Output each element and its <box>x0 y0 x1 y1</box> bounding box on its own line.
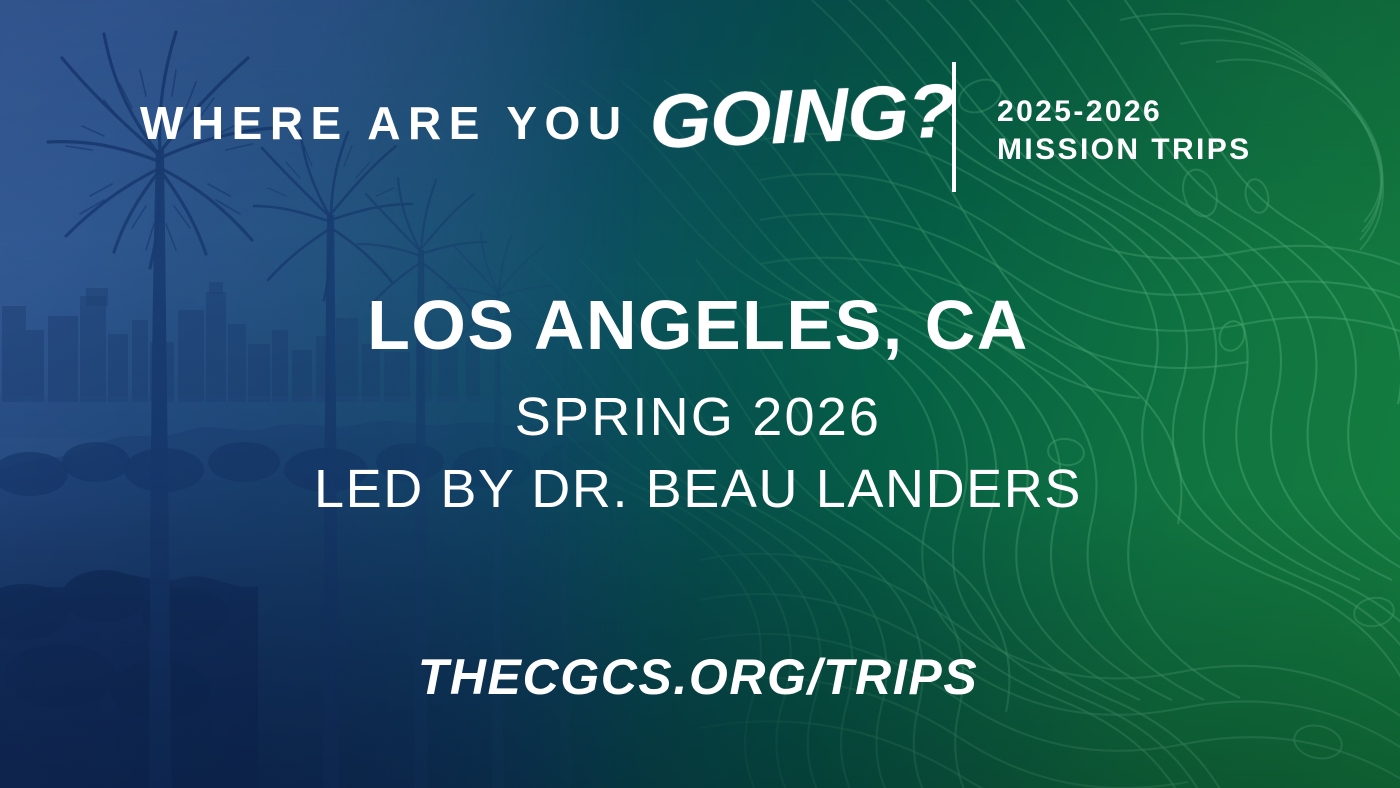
header-divider-rule <box>952 62 956 192</box>
headline-script-text: GOING? <box>648 73 956 161</box>
trip-details-block: LOS ANGELES, CA SPRING 2026 LED BY DR. B… <box>0 288 1400 519</box>
poster-header: WHERE ARE YOU GOING? 2025-2026 MISSION T… <box>0 58 1400 198</box>
edition-block: 2025-2026 MISSION TRIPS <box>997 93 1252 170</box>
edition-years: 2025-2026 <box>997 93 1252 131</box>
website-url[interactable]: THECGCS.ORG/TRIPS <box>418 648 979 706</box>
trip-leader: LED BY DR. BEAU LANDERS <box>314 460 1082 519</box>
edition-program: MISSION TRIPS <box>997 131 1252 169</box>
mission-trip-promo-poster: WHERE ARE YOU GOING? 2025-2026 MISSION T… <box>0 0 1400 788</box>
trip-season: SPRING 2026 <box>314 388 1082 447</box>
poster-content: WHERE ARE YOU GOING? 2025-2026 MISSION T… <box>0 0 1400 788</box>
website-url-block[interactable]: THECGCS.ORG/TRIPS <box>0 648 1400 706</box>
headline-plain-text: WHERE ARE YOU <box>140 100 629 146</box>
headline: WHERE ARE YOU GOING? <box>140 76 944 152</box>
trip-destination: LOS ANGELES, CA <box>314 288 1082 362</box>
